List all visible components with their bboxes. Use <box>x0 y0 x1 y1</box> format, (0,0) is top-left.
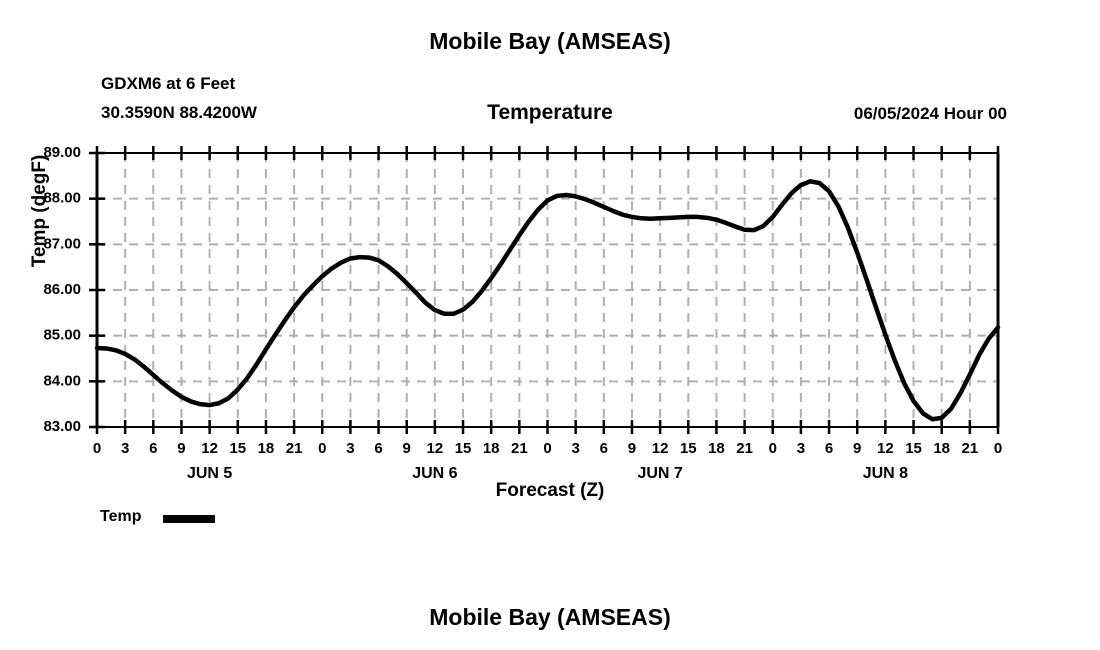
x-axis-tick-label: 9 <box>628 440 636 457</box>
x-axis-tick-label: 21 <box>736 440 753 457</box>
y-axis-tick-label: 88.00 <box>43 190 81 207</box>
x-axis-tick-label: 6 <box>825 440 833 457</box>
x-axis-tick-label: 3 <box>346 440 354 457</box>
x-axis-tick-label: 12 <box>427 440 444 457</box>
x-axis-day-label: JUN 6 <box>412 465 457 482</box>
x-axis-tick-label: 3 <box>571 440 579 457</box>
y-axis-tick-label: 84.00 <box>43 372 81 389</box>
y-axis-tick-label: 86.00 <box>43 281 81 298</box>
legend-label: Temp <box>100 508 141 526</box>
y-axis-tick-label: 85.00 <box>43 327 81 344</box>
x-axis-tick-label: 3 <box>797 440 805 457</box>
x-axis-tick-label: 9 <box>403 440 411 457</box>
x-axis-tick-label: 15 <box>229 440 246 457</box>
x-axis-tick-label: 9 <box>177 440 185 457</box>
x-axis-tick-label: 18 <box>258 440 275 457</box>
x-axis-tick-label: 0 <box>769 440 777 457</box>
x-axis-tick-label: 6 <box>600 440 608 457</box>
x-axis-tick-label: 21 <box>286 440 303 457</box>
x-axis-tick-label: 0 <box>93 440 101 457</box>
x-axis-tick-label: 18 <box>933 440 950 457</box>
legend-line-swatch <box>163 515 215 523</box>
x-axis-day-label: JUN 5 <box>187 465 232 482</box>
x-axis-tick-label: 15 <box>455 440 472 457</box>
y-axis-tick-label: 83.00 <box>43 418 81 435</box>
x-axis-tick-label: 0 <box>994 440 1002 457</box>
x-axis-tick-label: 6 <box>374 440 382 457</box>
x-axis-tick-label: 18 <box>708 440 725 457</box>
x-axis-tick-label: 18 <box>483 440 500 457</box>
x-axis-tick-label: 15 <box>905 440 922 457</box>
x-axis-tick-label: 6 <box>149 440 157 457</box>
x-axis-tick-label: 21 <box>511 440 528 457</box>
page-title-bottom: Mobile Bay (AMSEAS) <box>0 604 1100 631</box>
x-axis-tick-label: 9 <box>853 440 861 457</box>
grid-layer <box>97 153 998 427</box>
x-axis-tick-label: 12 <box>877 440 894 457</box>
x-axis-day-label: JUN 8 <box>863 465 908 482</box>
x-axis-tick-label: 15 <box>680 440 697 457</box>
y-axis-tick-label: 87.00 <box>43 235 81 252</box>
x-axis-tick-label: 12 <box>652 440 669 457</box>
x-axis-tick-label: 0 <box>318 440 326 457</box>
x-axis-tick-label: 3 <box>121 440 129 457</box>
x-axis-tick-label: 21 <box>962 440 979 457</box>
temperature-line-chart: 83.0084.0085.0086.0087.0088.0089.0003691… <box>0 0 1100 650</box>
y-axis-tick-label: 89.00 <box>43 144 81 161</box>
x-axis-tick-label: 0 <box>543 440 551 457</box>
x-axis-tick-label: 12 <box>201 440 218 457</box>
x-axis-day-label: JUN 7 <box>637 465 682 482</box>
